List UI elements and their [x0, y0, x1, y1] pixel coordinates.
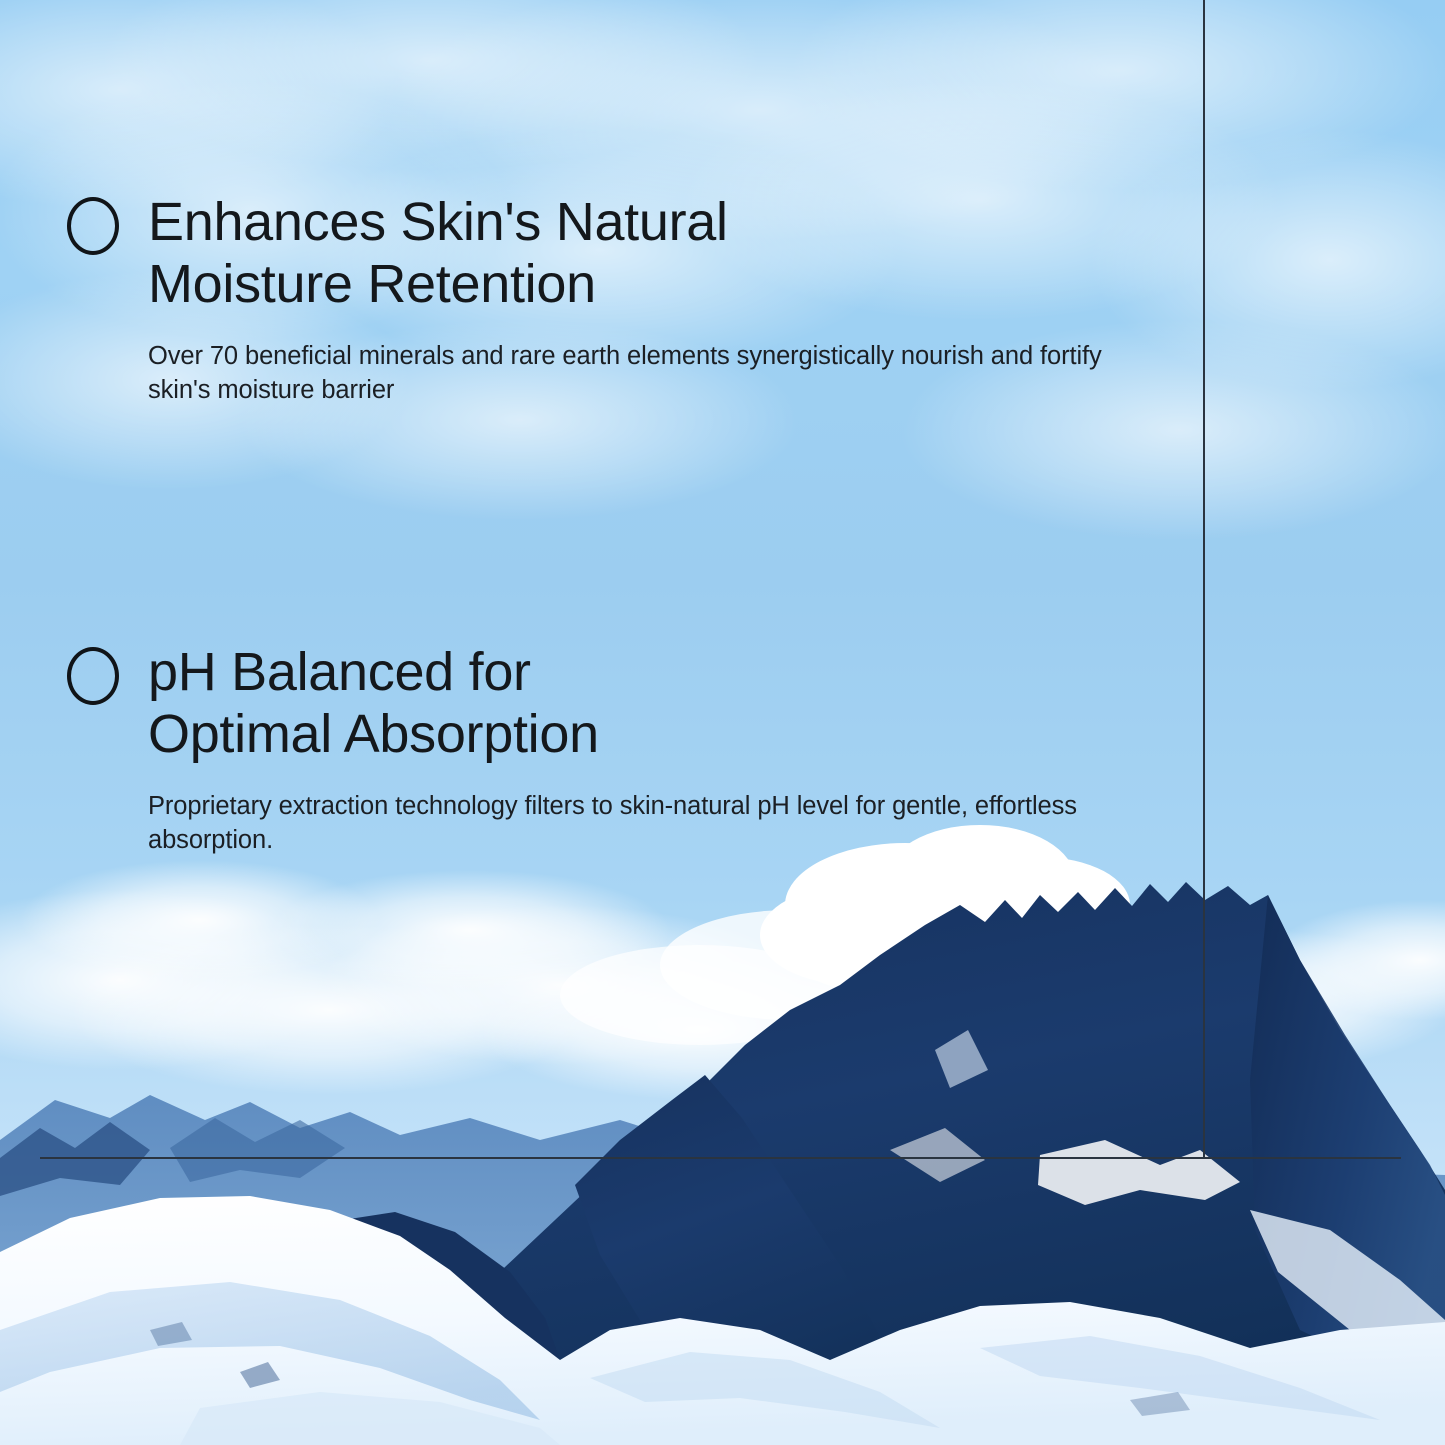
product-feature-banner: Enhances Skin's Natural Moisture Retenti…	[0, 0, 1445, 1445]
feature-description: Over 70 beneficial minerals and rare ear…	[0, 315, 1148, 407]
feature-heading-row: Enhances Skin's Natural Moisture Retenti…	[0, 191, 1160, 315]
horizontal-guide-line	[40, 1157, 1401, 1159]
feature-item-moisture-retention: Enhances Skin's Natural Moisture Retenti…	[0, 191, 1160, 407]
circle-outline-icon	[67, 197, 119, 255]
feature-heading-row: pH Balanced for Optimal Absorption	[0, 641, 1160, 765]
vertical-guide-line	[1203, 0, 1205, 1159]
feature-title: pH Balanced for Optimal Absorption	[0, 641, 1160, 765]
circle-outline-icon	[67, 647, 119, 705]
feature-title: Enhances Skin's Natural Moisture Retenti…	[0, 191, 1160, 315]
feature-item-ph-balanced: pH Balanced for Optimal Absorption Propr…	[0, 641, 1160, 857]
feature-list: Enhances Skin's Natural Moisture Retenti…	[0, 0, 1445, 1445]
feature-description: Proprietary extraction technology filter…	[0, 765, 1148, 857]
